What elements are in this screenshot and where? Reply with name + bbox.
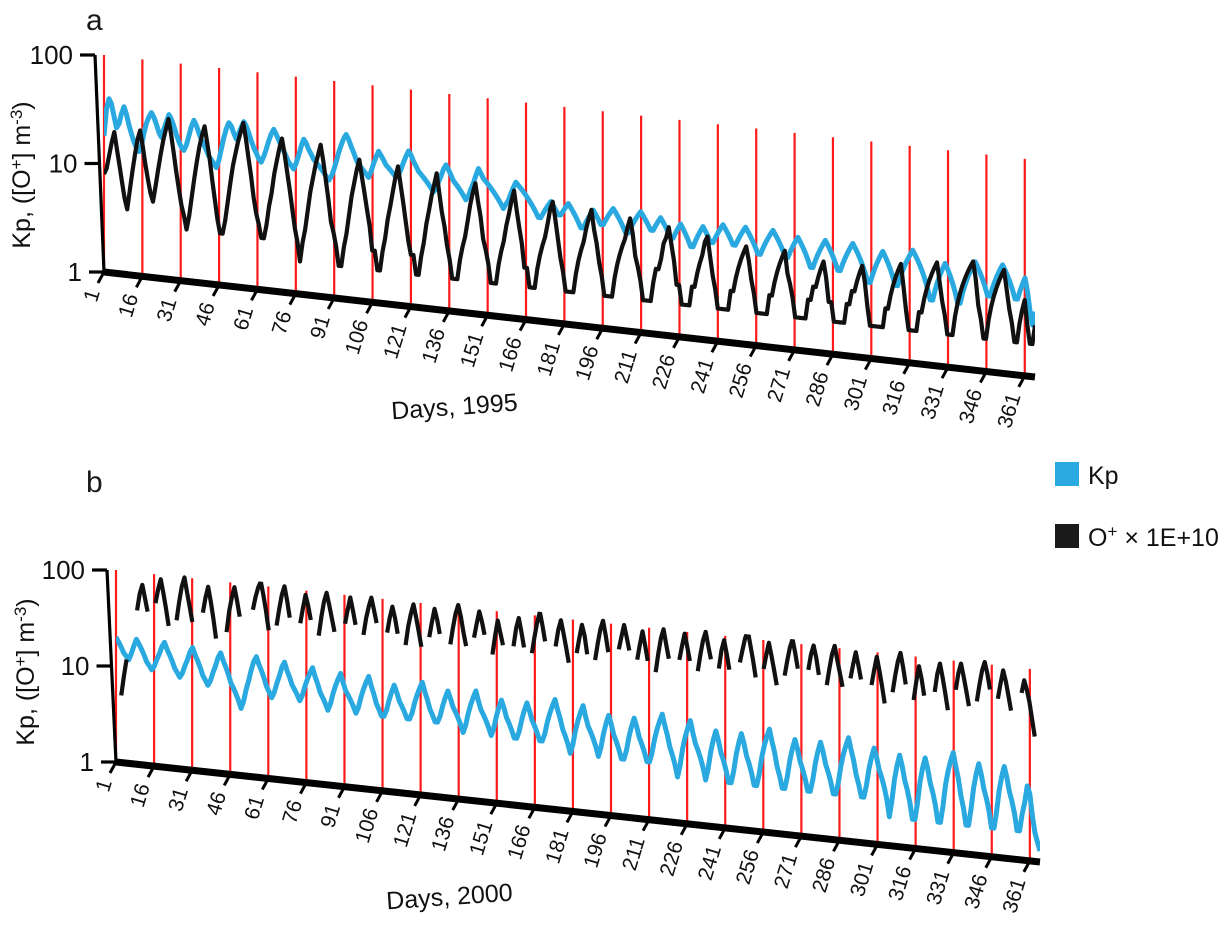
x-tick-label-331: 331 bbox=[917, 382, 949, 422]
x-tick-label-16: 16 bbox=[114, 291, 143, 320]
x-tick-label-181: 181 bbox=[533, 339, 565, 379]
figure-root: 1101001163146617691106121136151166181196… bbox=[0, 0, 1230, 928]
legend-swatch-kp bbox=[1055, 462, 1079, 486]
x-tick-label-316: 316 bbox=[878, 378, 910, 418]
x-tick-label-241: 241 bbox=[694, 843, 726, 883]
y-tick-label-100: 100 bbox=[30, 40, 73, 70]
y-tick-label-1: 1 bbox=[68, 257, 82, 287]
x-axis-title-a: Days, 1995 bbox=[390, 389, 518, 426]
x-tick-label-361: 361 bbox=[998, 876, 1030, 916]
x-tick-label-61: 61 bbox=[240, 793, 269, 822]
x-tick-label-301: 301 bbox=[846, 859, 878, 899]
x-tick-label-151: 151 bbox=[456, 330, 488, 370]
y-axis-title-a: Kp, ([O+] m-3) bbox=[7, 101, 36, 248]
y-ticks: 110100 bbox=[42, 555, 116, 777]
legend: KpO+ × 1E+10 bbox=[1055, 462, 1219, 552]
x-tick-label-76: 76 bbox=[278, 797, 307, 826]
x-axis-title-b: Days, 2000 bbox=[385, 879, 513, 916]
x-tick-label-361: 361 bbox=[993, 391, 1025, 431]
x-tick-label-31: 31 bbox=[153, 295, 182, 324]
x-tick-label-211: 211 bbox=[618, 834, 650, 873]
x-tick-label-271: 271 bbox=[763, 365, 795, 405]
x-tick-label-46: 46 bbox=[202, 789, 231, 818]
x-ticks: 1163146617691106121136151166181196211226… bbox=[79, 272, 1025, 431]
x-tick-1 bbox=[110, 762, 116, 773]
x-tick-label-46: 46 bbox=[191, 300, 220, 329]
x-tick-label-106: 106 bbox=[341, 317, 373, 357]
x-tick-label-256: 256 bbox=[725, 360, 757, 400]
x-tick-label-346: 346 bbox=[960, 872, 992, 912]
x-tick-label-1: 1 bbox=[91, 777, 116, 795]
x-tick-label-316: 316 bbox=[884, 863, 916, 903]
x-tick-label-31: 31 bbox=[164, 785, 193, 814]
x-ticks: 1163146617691106121136151166181196211226… bbox=[91, 762, 1030, 916]
x-tick-label-106: 106 bbox=[351, 806, 383, 846]
legend-label-kp: Kp bbox=[1088, 462, 1119, 490]
y-tick-label-1: 1 bbox=[80, 747, 94, 777]
x-tick-label-196: 196 bbox=[580, 830, 612, 870]
x-tick-label-286: 286 bbox=[801, 369, 833, 409]
panel-a: 1101001163146617691106121136151166181196… bbox=[7, 4, 1035, 431]
y-axis-title-b: Kp, ([O+] m-3) bbox=[11, 598, 40, 745]
x-tick-label-181: 181 bbox=[541, 826, 573, 866]
y-tick-label-10: 10 bbox=[49, 149, 78, 179]
chart-canvas: 1101001163146617691106121136151166181196… bbox=[0, 0, 1230, 928]
legend-label-oplus: O+ × 1E+10 bbox=[1088, 522, 1219, 552]
x-tick-label-346: 346 bbox=[955, 386, 987, 426]
x-tick-label-16: 16 bbox=[126, 781, 155, 810]
x-tick-label-136: 136 bbox=[427, 814, 459, 854]
y-tick-label-100: 100 bbox=[42, 555, 85, 585]
x-tick-label-241: 241 bbox=[686, 356, 718, 396]
panel-label-b: b bbox=[86, 466, 103, 499]
x-tick-label-1: 1 bbox=[79, 287, 104, 305]
x-tick-label-136: 136 bbox=[418, 326, 450, 366]
y-ticks: 110100 bbox=[30, 40, 104, 287]
x-tick-label-121: 121 bbox=[389, 810, 421, 850]
x-tick-label-91: 91 bbox=[306, 313, 335, 342]
x-tick-label-166: 166 bbox=[503, 822, 535, 862]
x-tick-1 bbox=[98, 272, 104, 283]
x-tick-label-226: 226 bbox=[656, 839, 688, 879]
x-tick-label-76: 76 bbox=[268, 308, 297, 337]
x-tick-label-91: 91 bbox=[316, 801, 345, 830]
x-tick-label-331: 331 bbox=[922, 867, 954, 907]
x-tick-label-301: 301 bbox=[840, 373, 872, 413]
x-tick-label-256: 256 bbox=[732, 847, 764, 887]
legend-swatch-oplus bbox=[1055, 524, 1079, 548]
x-tick-label-166: 166 bbox=[495, 334, 527, 374]
panel-label-a: a bbox=[86, 4, 103, 37]
panel-b: 1101001163146617691106121136151166181196… bbox=[11, 466, 1040, 916]
x-tick-label-61: 61 bbox=[229, 304, 258, 333]
x-tick-label-286: 286 bbox=[808, 855, 840, 895]
x-tick-label-271: 271 bbox=[770, 851, 802, 891]
y-tick-label-10: 10 bbox=[61, 651, 90, 681]
x-tick-label-226: 226 bbox=[648, 352, 680, 392]
x-tick-label-121: 121 bbox=[379, 321, 411, 361]
x-tick-label-196: 196 bbox=[571, 343, 603, 383]
x-tick-label-211: 211 bbox=[610, 347, 642, 386]
x-tick-label-151: 151 bbox=[465, 818, 497, 858]
